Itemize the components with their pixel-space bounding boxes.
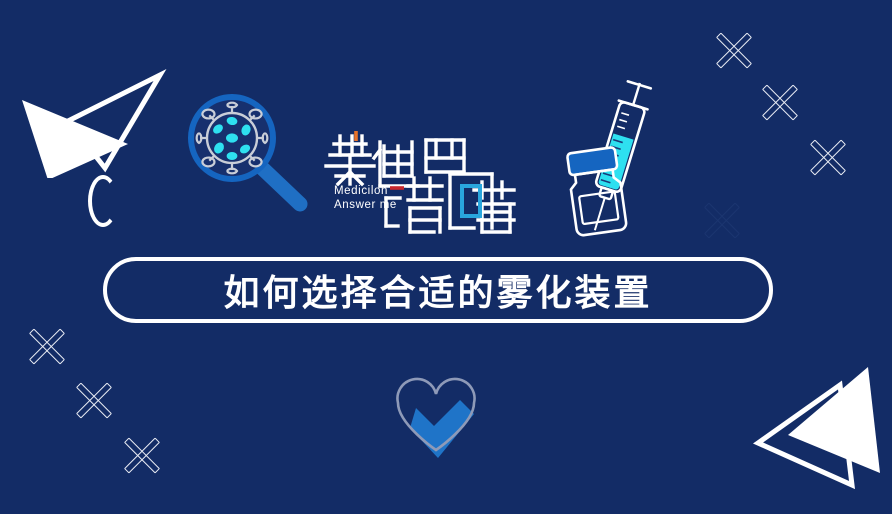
x-decoration-icon xyxy=(122,435,162,475)
x-decoration-icon xyxy=(714,30,754,70)
triangle-pair-top-left xyxy=(10,28,170,178)
brand-logo-cn-mark xyxy=(322,128,518,236)
x-decoration-faint-icon xyxy=(703,201,741,239)
triangle-pair-bottom-right xyxy=(740,365,892,510)
brand-tagline-en: Answer me xyxy=(334,198,397,212)
brand-logo: Medicilon Answer me xyxy=(322,128,518,236)
brand-logo-en: Medicilon Answer me xyxy=(334,184,397,212)
vial-icon xyxy=(566,147,627,236)
arc-c-shape xyxy=(88,175,118,227)
x-decoration-icon xyxy=(760,82,800,122)
page-title: 如何选择合适的雾化装置 xyxy=(223,264,652,316)
syringe-vial-group xyxy=(548,78,672,242)
brand-name-en: Medicilon xyxy=(334,184,397,198)
x-decoration-icon xyxy=(808,137,848,177)
poster-canvas: Medicilon Answer me 如何选择合适的雾化装置 xyxy=(0,0,892,514)
x-decoration-icon xyxy=(74,380,114,420)
headline-pill: 如何选择合适的雾化装置 xyxy=(103,257,773,323)
x-decoration-icon xyxy=(27,326,67,366)
heart-pulse-icon xyxy=(382,370,490,462)
magnifier-virus-icon xyxy=(182,88,324,212)
syringe-icon xyxy=(581,79,655,235)
